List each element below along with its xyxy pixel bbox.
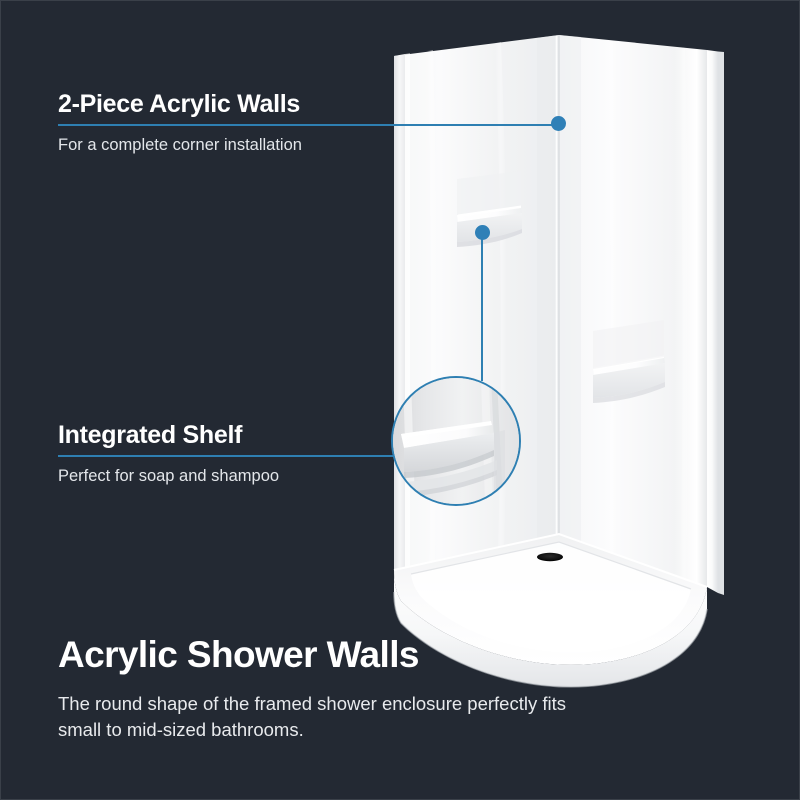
callout-integrated-shelf: Integrated Shelf Perfect for soap and sh… bbox=[58, 422, 394, 487]
leader-line-vertical bbox=[481, 232, 483, 381]
callout-subtitle: For a complete corner installation bbox=[58, 135, 560, 156]
callout-2-piece-acrylic-walls: 2-Piece Acrylic Walls For a complete cor… bbox=[58, 91, 560, 156]
callout-leader-line bbox=[58, 455, 394, 457]
magnifier-circle-shelf-detail bbox=[391, 376, 521, 506]
callout-title: 2-Piece Acrylic Walls bbox=[58, 91, 560, 117]
leader-dot-icon bbox=[551, 116, 566, 131]
right-wall-shelf bbox=[593, 320, 665, 403]
callout-leader-line bbox=[58, 124, 560, 126]
callout-subtitle: Perfect for soap and shampoo bbox=[58, 466, 394, 487]
drain bbox=[537, 553, 563, 561]
page-title: Acrylic Shower Walls bbox=[58, 635, 598, 674]
footer-block: Acrylic Shower Walls The round shape of … bbox=[58, 635, 598, 744]
product-infographic: 2-Piece Acrylic Walls For a complete cor… bbox=[0, 0, 800, 800]
callout-title: Integrated Shelf bbox=[58, 422, 394, 448]
upper-corner-shelf bbox=[457, 171, 522, 247]
footer-description: The round shape of the framed shower enc… bbox=[58, 691, 598, 744]
leader-dot-icon bbox=[475, 225, 490, 240]
right-wall-panel bbox=[559, 35, 724, 595]
